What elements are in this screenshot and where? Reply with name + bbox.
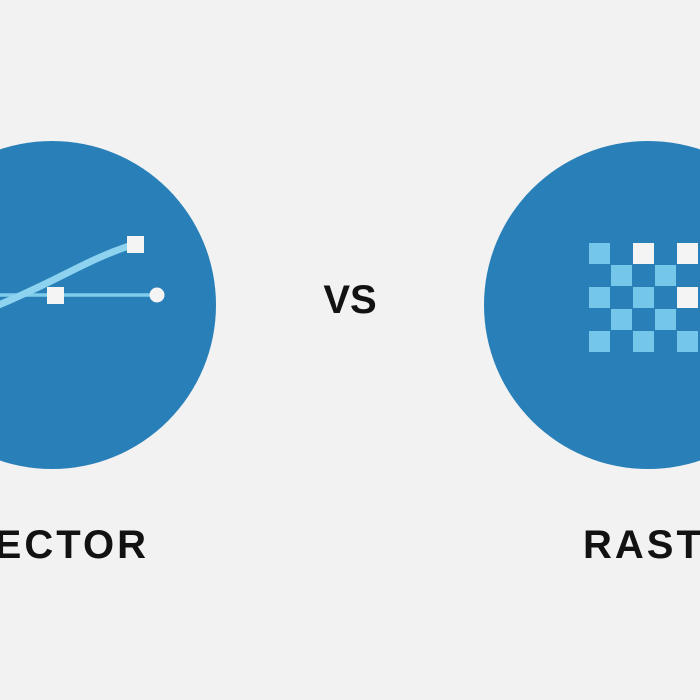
bezier-handle-square-top[interactable]	[127, 236, 144, 253]
raster-pixel-cell	[589, 331, 610, 352]
versus-label: VS	[0, 278, 700, 322]
raster-pixel-cell	[677, 331, 698, 352]
raster-pixel-cell	[589, 243, 610, 264]
vector-caption: VECTOR	[0, 522, 149, 568]
comparison-graphic: VS VECTOR RASTER	[0, 0, 700, 700]
raster-caption: RASTER	[583, 522, 700, 568]
raster-pixel-cell	[633, 331, 654, 352]
raster-pixel-cell	[633, 243, 654, 264]
raster-pixel-cell	[677, 243, 698, 264]
